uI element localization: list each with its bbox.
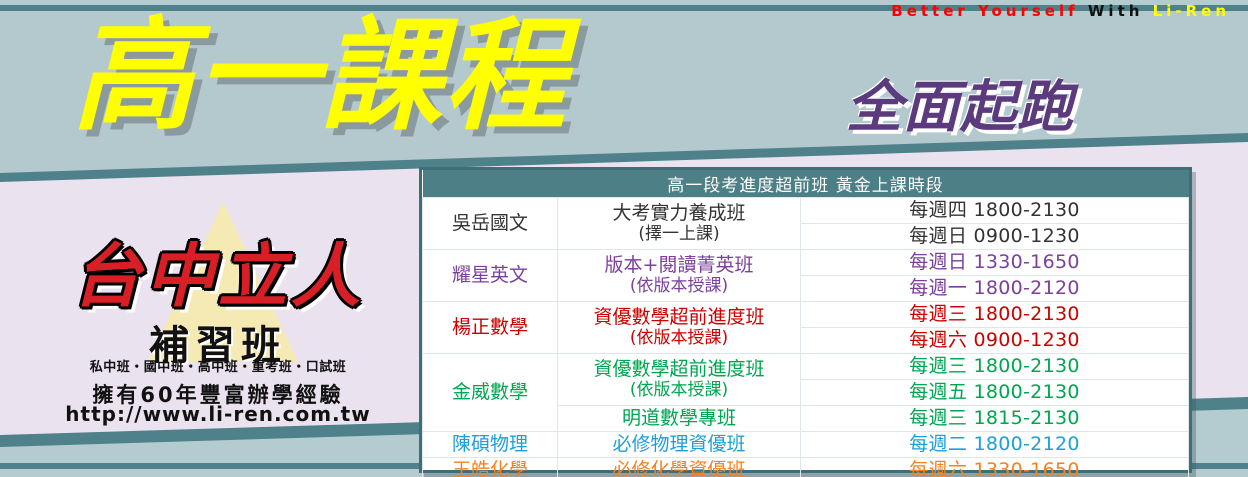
course-line-1: 大考實力養成班 (612, 202, 745, 224)
schedule-table-card: 高一段考進度超前班 黃金上課時段 吳岳國文大考實力養成班(擇一上課)每週四 18… (419, 167, 1192, 473)
logo-class-list: 私中班・國中班・高中班・重考班・口試班 (38, 356, 398, 375)
cell-time: 每週五 1800-2130 (801, 380, 1189, 406)
page-title: 高一課程 (72, 12, 568, 140)
cell-time: 每週三 1815-2130 (801, 406, 1189, 432)
tagline-part-red: Better Yourself (891, 2, 1078, 20)
cell-course: 必修物理資優班 (558, 432, 801, 458)
table-row: 吳岳國文大考實力養成班(擇一上課)每週四 1800-2130 (423, 198, 1189, 224)
table-row: 耀星英文版本+閱讀菁英班(依版本授課)每週日 1330-1650 (423, 250, 1189, 276)
schedule-table: 高一段考進度超前班 黃金上課時段 吳岳國文大考實力養成班(擇一上課)每週四 18… (422, 170, 1189, 477)
table-header-row: 高一段考進度超前班 黃金上課時段 (423, 170, 1189, 198)
course-line-1: 明道數學專班 (622, 407, 736, 429)
tagline: Better Yourself With Li-Ren (891, 2, 1230, 20)
cell-teacher: 王皓化學 (423, 458, 558, 477)
cell-course: 資優數學超前進度班(依版本授課) (558, 354, 801, 406)
table-row: 陳碩物理必修物理資優班每週二 1800-2120 (423, 432, 1189, 458)
course-line-1: 資優數學超前進度班 (593, 306, 764, 328)
cell-time: 每週三 1800-2130 (801, 354, 1189, 380)
tagline-part-yellow: Li-Ren (1153, 2, 1230, 20)
cell-time: 每週三 1800-2130 (801, 302, 1189, 328)
cell-teacher: 耀星英文 (423, 250, 558, 302)
table-row: 金威數學資優數學超前進度班(依版本授課)每週三 1800-2130 (423, 354, 1189, 380)
course-line-2: (依版本授課) (560, 277, 798, 297)
poster-root: Better Yourself With Li-Ren 高一課程 全面起跑 台中… (0, 0, 1248, 477)
cell-time: 每週一 1800-2120 (801, 276, 1189, 302)
course-line-2: (依版本授課) (560, 329, 798, 349)
cell-time: 每週六 0900-1230 (801, 328, 1189, 354)
page-subtitle: 全面起跑 (846, 62, 1074, 143)
course-line-1: 資優數學超前進度班 (593, 358, 764, 380)
course-line-1: 版本+閱讀菁英班 (605, 254, 754, 276)
cell-time: 每週六 1330-1650 (801, 458, 1189, 477)
cell-teacher: 吳岳國文 (423, 198, 558, 250)
cell-teacher: 金威數學 (423, 354, 558, 432)
cell-teacher: 陳碩物理 (423, 432, 558, 458)
cell-course: 必修化學資優班 (558, 458, 801, 477)
logo-url[interactable]: http://www.li-ren.com.tw (38, 402, 398, 426)
logo-name: 台中立人 (38, 220, 398, 320)
cell-course: 大考實力養成班(擇一上課) (558, 198, 801, 250)
course-line-2: (擇一上課) (560, 225, 798, 245)
cell-course: 明道數學專班 (558, 406, 801, 432)
table-header-title: 高一段考進度超前班 黃金上課時段 (423, 170, 1189, 198)
table-row: 王皓化學必修化學資優班每週六 1330-1650 (423, 458, 1189, 477)
course-line-2: (依版本授課) (560, 381, 798, 401)
cell-course: 版本+閱讀菁英班(依版本授課) (558, 250, 801, 302)
course-line-1: 必修物理資優班 (612, 433, 745, 455)
cell-time: 每週日 1330-1650 (801, 250, 1189, 276)
logo: 台中立人 補習班 私中班・國中班・高中班・重考班・口試班 擁有60年豐富辦學經驗… (38, 210, 398, 425)
cell-teacher: 楊正數學 (423, 302, 558, 354)
tagline-part-black: With (1088, 2, 1144, 20)
cell-time: 每週日 0900-1230 (801, 224, 1189, 250)
cell-time: 每週二 1800-2120 (801, 432, 1189, 458)
cell-time: 每週四 1800-2130 (801, 198, 1189, 224)
cell-course: 資優數學超前進度班(依版本授課) (558, 302, 801, 354)
course-line-1: 必修化學資優班 (612, 459, 745, 477)
table-row: 楊正數學資優數學超前進度班(依版本授課)每週三 1800-2130 (423, 302, 1189, 328)
schedule-table-body: 吳岳國文大考實力養成班(擇一上課)每週四 1800-2130每週日 0900-1… (423, 198, 1189, 477)
